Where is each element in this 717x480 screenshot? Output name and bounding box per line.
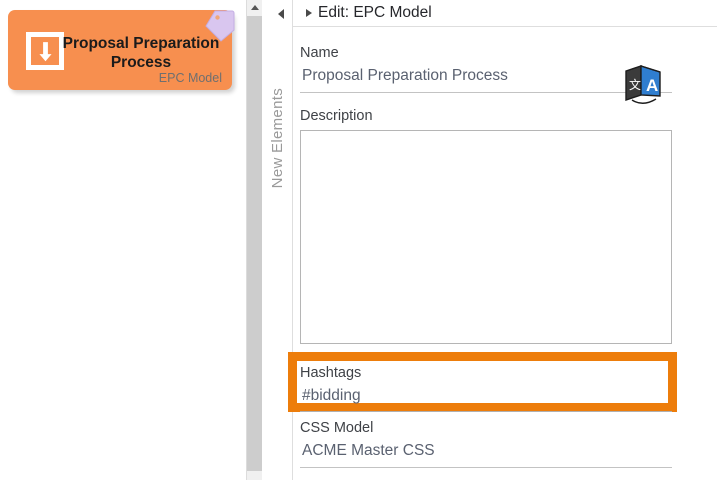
field-label-css-model: CSS Model <box>300 420 373 436</box>
hashtags-input-underline <box>300 411 672 412</box>
tab-new-elements-label: New Elements <box>269 88 286 188</box>
tab-new-elements[interactable]: New Elements <box>262 38 293 238</box>
field-label-name: Name <box>300 45 339 61</box>
description-textarea[interactable] <box>300 130 672 344</box>
model-card-proposal-preparation-process[interactable]: Proposal Preparation Process EPC Model <box>8 10 232 90</box>
properties-panel: Edit: EPC Model Name Proposal Preparatio… <box>293 0 717 480</box>
section-expander-button[interactable] <box>306 9 312 17</box>
model-card-title: Proposal Preparation Process <box>62 34 220 72</box>
collapse-panel-button[interactable] <box>274 7 288 21</box>
properties-panel-title: Edit: EPC Model <box>318 4 432 22</box>
css-model-input-underline <box>300 467 672 468</box>
application-window: Proposal Preparation Process EPC Model N… <box>0 0 717 480</box>
collapse-left-icon <box>278 9 284 19</box>
triangle-right-icon <box>306 9 312 17</box>
epc-model-icon <box>26 32 64 70</box>
field-label-description: Description <box>300 108 373 124</box>
model-card-subtitle: EPC Model <box>159 71 222 85</box>
name-input[interactable]: Proposal Preparation Process <box>302 67 508 85</box>
properties-panel-header: Edit: EPC Model <box>293 0 717 27</box>
tag-icon[interactable] <box>202 7 240 45</box>
svg-text:文: 文 <box>629 77 641 92</box>
hashtags-input[interactable]: #bidding <box>302 387 361 405</box>
model-canvas[interactable]: Proposal Preparation Process EPC Model <box>0 0 246 480</box>
canvas-vertical-scrollbar[interactable] <box>246 0 262 480</box>
scroll-up-button[interactable] <box>247 0 262 15</box>
field-label-hashtags: Hashtags <box>300 365 361 381</box>
chevron-up-icon <box>251 5 259 10</box>
css-model-input[interactable]: ACME Master CSS <box>302 442 435 460</box>
name-input-underline <box>300 92 672 93</box>
scrollbar-thumb[interactable] <box>247 16 262 471</box>
translate-icon[interactable]: 文 A <box>620 62 666 106</box>
svg-text:A: A <box>646 76 658 95</box>
